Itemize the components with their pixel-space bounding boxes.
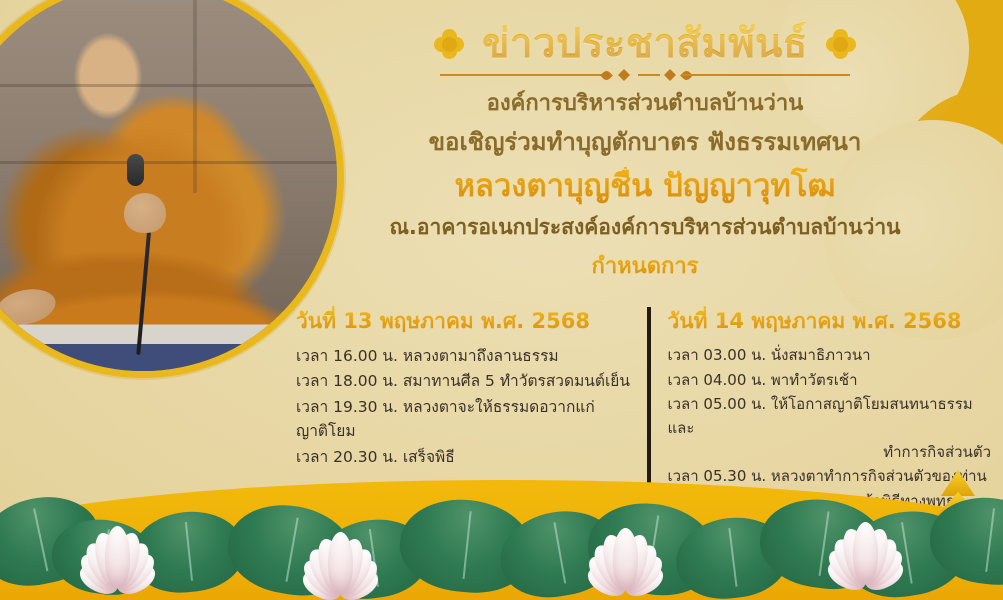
organization-name: องค์การบริหารส่วนตำบลบ้านว่าน xyxy=(300,88,990,120)
photo-wall-line xyxy=(0,84,337,87)
page-title: ข่าวประชาสัมพันธ์ xyxy=(482,22,808,66)
schedule-item: เวลา 18.00 น. สมาทานศีล 5 ทำวัตรสวดมนต์เ… xyxy=(296,369,633,393)
lotus-flower xyxy=(52,498,182,594)
schedule-day2-heading: วันที่ 14 พฤษภาคม พ.ศ. 2568 xyxy=(667,305,991,338)
schedule-item: เวลา 05.00 น. ให้โอกาสญาติโยมสนทนาธรรมแล… xyxy=(667,393,991,464)
monk-hand xyxy=(0,284,58,330)
quatrefoil-ornament-icon xyxy=(826,29,856,59)
lotus-flower xyxy=(800,494,930,590)
header-block: ข่าวประชาสัมพันธ์ องค์การบริหารส่วนตำบลบ… xyxy=(300,22,990,283)
schedule-column-day1: วันที่ 13 พฤษภาคม พ.ศ. 2568 เวลา 16.00 น… xyxy=(296,305,647,470)
venue-text: ณ.อาคารอเนกประสงค์องค์การบริหารส่วนตำบลบ… xyxy=(300,213,990,242)
schedule-item: เวลา 03.00 น. นั่งสมาธิภาวนา xyxy=(667,344,991,368)
quatrefoil-ornament-icon xyxy=(434,29,464,59)
photo-wall-line xyxy=(193,0,197,193)
monk-hand xyxy=(124,193,166,233)
poster-canvas: ข่าวประชาสัมพันธ์ องค์การบริหารส่วนตำบลบ… xyxy=(0,0,1003,600)
invitation-text: ขอเชิญร่วมทำบุญตักบาตร ฟังธรรมเทศนา xyxy=(300,126,990,160)
schedule-item-continuation: ทำการกิจส่วนตัว xyxy=(667,441,991,465)
lotus-petal xyxy=(853,522,878,584)
lotus-petal xyxy=(613,528,638,590)
monk-name: หลวงตาบุญชื่น ปัญญาวุทโฒ xyxy=(300,167,990,206)
lotus-petal xyxy=(105,526,130,588)
title-divider-ornament xyxy=(440,68,850,82)
schedule-item: เวลา 04.00 น. พาทำวัตรเช้า xyxy=(667,369,991,393)
microphone-icon xyxy=(127,154,144,186)
photo-wall-line xyxy=(0,161,337,164)
monk-photo-frame xyxy=(0,0,344,378)
lotus-flower xyxy=(275,504,405,600)
schedule-item: เวลา 20.30 น. เสร็จพิธี xyxy=(296,445,633,469)
agenda-label: กำหนดการ xyxy=(300,248,990,283)
lotus-petal xyxy=(328,532,353,594)
schedule-day1-heading: วันที่ 13 พฤษภาคม พ.ศ. 2568 xyxy=(296,305,633,338)
schedule-item: เวลา 16.00 น. หลวงตามาถึงลานธรรม xyxy=(296,344,633,368)
schedule-item: เวลา 19.30 น. หลวงตาจะให้ธรรมดอวากแก่ญาต… xyxy=(296,395,633,444)
monk-photo xyxy=(0,0,337,371)
lotus-flower xyxy=(560,500,690,596)
title-row: ข่าวประชาสัมพันธ์ xyxy=(300,22,990,66)
